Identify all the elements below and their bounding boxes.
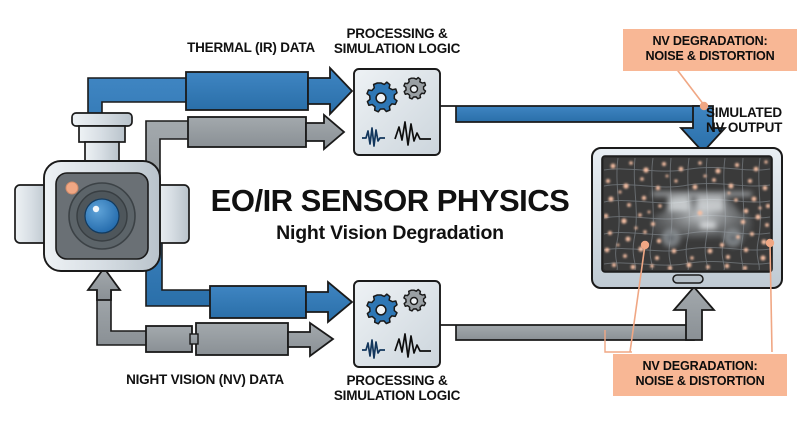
processing-box-top bbox=[354, 69, 440, 155]
callout-top: NV DEGRADATION: NOISE & DISTORTION bbox=[623, 29, 797, 71]
page-title: EO/IR SENSOR PHYSICS bbox=[180, 183, 600, 219]
callout-top-line2: NOISE & DISTORTION bbox=[631, 49, 789, 64]
diagram-canvas: THERMAL (IR) DATA PROCESSING & SIMULATIO… bbox=[0, 0, 800, 428]
diagram-title-block: EO/IR SENSOR PHYSICS Night Vision Degrad… bbox=[180, 183, 600, 245]
callout-top-line1: NV DEGRADATION: bbox=[631, 34, 789, 49]
callout-bottom-line2: NOISE & DISTORTION bbox=[621, 374, 779, 389]
simulated-nv-monitor bbox=[592, 148, 782, 288]
flow-gray-return-path bbox=[440, 287, 714, 340]
label-thermal-ir-data: THERMAL (IR) DATA bbox=[176, 40, 326, 55]
label-processing-top: PROCESSING & SIMULATION LOGIC bbox=[331, 26, 463, 56]
label-processing-bottom: PROCESSING & SIMULATION LOGIC bbox=[331, 373, 463, 403]
page-subtitle: Night Vision Degradation bbox=[180, 222, 600, 245]
processing-box-bottom bbox=[354, 281, 440, 367]
callout-bottom: NV DEGRADATION: NOISE & DISTORTION bbox=[613, 354, 787, 396]
label-night-vision-data: NIGHT VISION (NV) DATA bbox=[110, 372, 300, 387]
callout-bottom-line1: NV DEGRADATION: bbox=[621, 359, 779, 374]
label-simulated-nv-output: SIMULATED NV OUTPUT bbox=[706, 105, 796, 135]
flow-simulated-nv-output-path bbox=[440, 106, 725, 152]
